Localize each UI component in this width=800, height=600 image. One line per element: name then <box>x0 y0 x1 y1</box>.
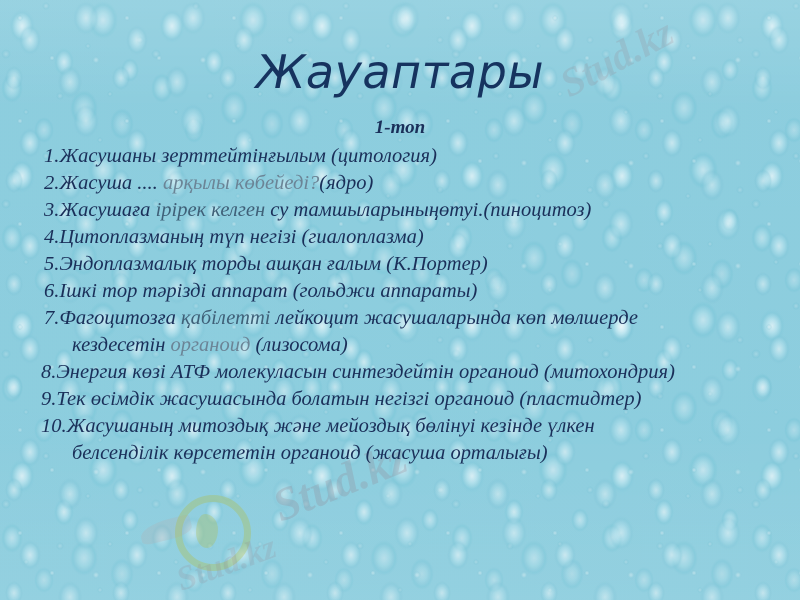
page-title: Жауаптары <box>0 44 800 100</box>
slide-content: Жауаптары 1-топ 1.Жасушаны зерттейтінғыл… <box>0 0 800 600</box>
answer-text-segment: Жасушаны зерттейтінғылым (цитология) <box>59 145 437 167</box>
answer-line: 4.Цитоплазманың түп негізі (гиалоплазма) <box>0 224 800 251</box>
answer-line: 7.Фагоцитозға қабілетті лейкоцит жасушал… <box>0 305 800 332</box>
answer-text-segment: лейкоцит жасушаларында көп мөлшерде <box>276 307 638 329</box>
answer-number: 3. <box>44 199 59 221</box>
answer-number: 10. <box>41 415 67 437</box>
answer-text-segment: (ядро) <box>319 172 373 194</box>
answer-number: 7. <box>44 307 59 329</box>
answer-line: 1.Жасушаны зерттейтінғылым (цитология) <box>0 143 800 170</box>
answer-text-segment: Цитоплазманың түп негізі (гиалоплазма) <box>59 226 423 248</box>
answer-number: 5. <box>44 253 59 275</box>
answer-line: 9.Тек өсімдік жасушасында болатын негізг… <box>0 386 800 413</box>
answer-text-segment: қабілетті <box>181 307 276 329</box>
answer-text-segment: белсенділік көрсететін органоид (жасуша … <box>72 442 548 464</box>
answer-number: 2. <box>44 172 59 194</box>
answer-text-segment: (лизосома) <box>255 334 347 356</box>
answer-line: 8.Энергия көзі АТФ молекуласын синтездей… <box>0 359 800 386</box>
answer-number: 6. <box>44 280 59 302</box>
presentation-slide: Stud.kz Stud.kz Stud.kz Жауаптары 1-топ … <box>0 0 800 600</box>
answer-text-segment: ірірек келген <box>156 199 271 221</box>
answer-text-segment: Фагоцитозға <box>59 307 181 329</box>
answer-text-segment: органоид <box>171 334 256 356</box>
answer-number: 4. <box>44 226 59 248</box>
answer-text-segment: су тамшыларыныңөтуі.(пиноцитоз) <box>270 199 591 221</box>
answer-text-segment: арқылы көбейеді? <box>163 172 319 194</box>
answer-text-segment: Жасуша .... <box>59 172 163 194</box>
answer-text-segment: Жасушаның митоздық және мейоздық бөлінуі… <box>67 415 595 437</box>
answer-line: кездесетін органоид (лизосома) <box>0 332 800 359</box>
answer-text-segment: Жасушаға <box>59 199 155 221</box>
answer-text-segment: Энергия көзі АТФ молекуласын синтездейті… <box>56 361 675 383</box>
answer-number: 9. <box>41 388 56 410</box>
answer-text-segment: кездесетін <box>72 334 171 356</box>
answer-line: 3.Жасушаға ірірек келген су тамшыларының… <box>0 197 800 224</box>
answers-list: 1.Жасушаны зерттейтінғылым (цитология)2.… <box>0 143 800 467</box>
group-label: 1-топ <box>0 116 800 140</box>
answer-text-segment: Ішкі тор тәрізді аппарат (гольджи аппара… <box>59 280 477 302</box>
answer-line: 10.Жасушаның митоздық және мейоздық бөлі… <box>0 413 800 440</box>
answer-line: белсенділік көрсететін органоид (жасуша … <box>0 440 800 467</box>
answer-line: 6.Ішкі тор тәрізді аппарат (гольджи аппа… <box>0 278 800 305</box>
answer-number: 1. <box>44 145 59 167</box>
answer-number: 8. <box>41 361 56 383</box>
answer-line: 2.Жасуша .... арқылы көбейеді?(ядро) <box>0 170 800 197</box>
answer-text-segment: Тек өсімдік жасушасында болатын негізгі … <box>56 388 641 410</box>
answer-line: 5.Эндоплазмалық торды ашқан ғалым (К.Пор… <box>0 251 800 278</box>
answer-text-segment: Эндоплазмалық торды ашқан ғалым (К.Порте… <box>59 253 487 275</box>
